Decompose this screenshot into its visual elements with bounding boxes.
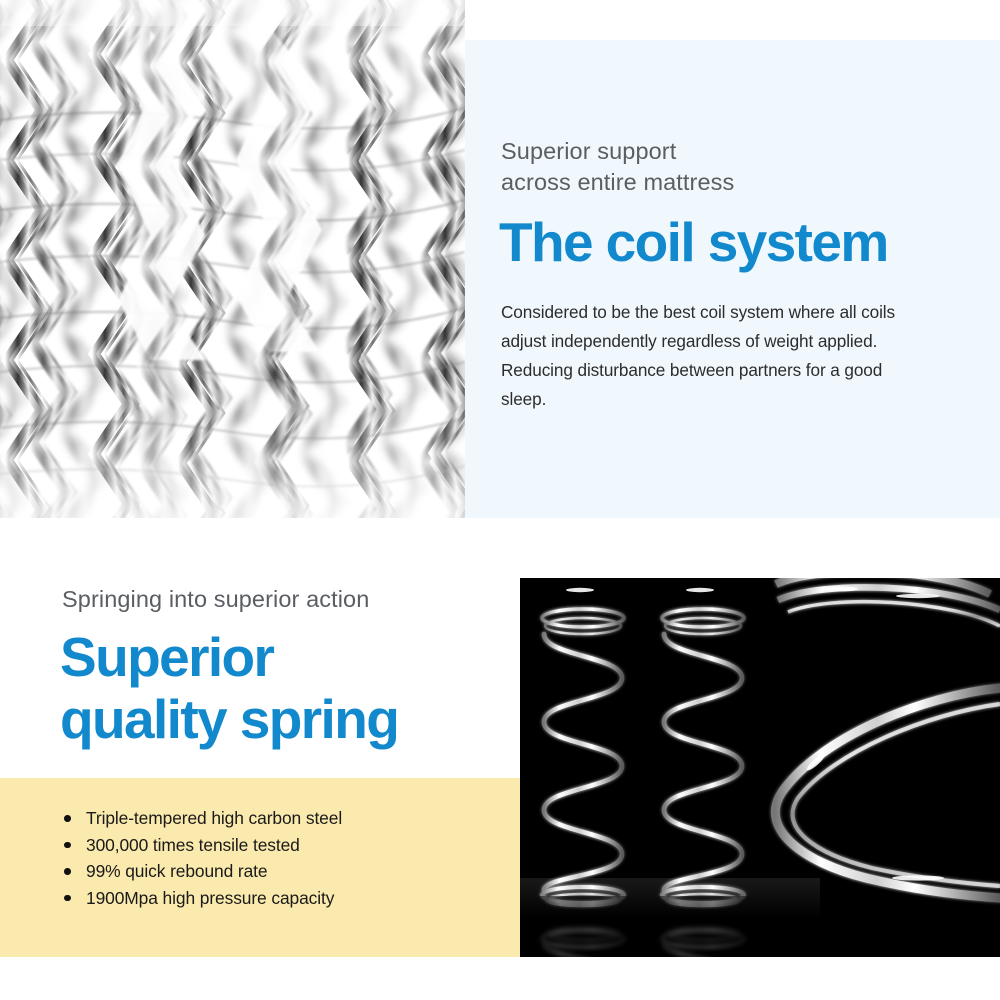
list-item: 99% quick rebound rate [62,858,342,885]
bullet-dot-icon [64,868,71,875]
coil-macro-photo [0,0,465,518]
list-item: 1900Mpa high pressure capacity [62,885,342,912]
bullet-dot-icon [64,815,71,822]
list-item-label: Triple-tempered high carbon steel [86,808,342,828]
list-item-label: 300,000 times tensile tested [86,835,300,855]
spring-photo-black [520,578,1000,957]
bullet-dot-icon [64,842,71,849]
bullet-dot-icon [64,895,71,902]
spring-features-list: Triple-tempered high carbon steel 300,00… [62,805,342,911]
list-item-label: 1900Mpa high pressure capacity [86,888,334,908]
coil-system-kicker: Superior support across entire mattress [501,136,734,198]
list-item: 300,000 times tensile tested [62,832,342,859]
list-item: Triple-tempered high carbon steel [62,805,342,832]
list-item-label: 99% quick rebound rate [86,861,268,881]
spring-quality-kicker: Springing into superior action [62,584,369,615]
infographic-page: Superior support across entire mattress … [0,0,1000,1000]
coil-system-headline: The coil system [499,212,888,272]
coil-system-body: Considered to be the best coil system wh… [501,298,911,414]
spring-quality-headline: Superior quality spring [60,626,398,750]
coil-system-text-panel: Superior support across entire mattress … [465,40,1000,518]
